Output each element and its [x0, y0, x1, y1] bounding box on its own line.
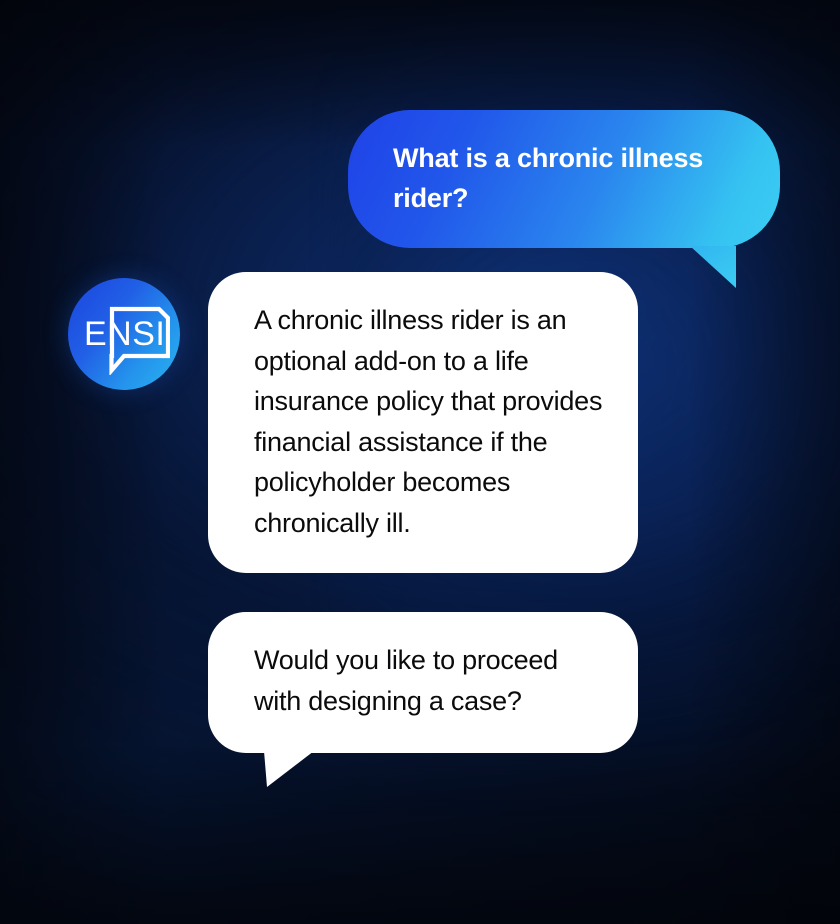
conversation-thread: What is a chronic illness rider? ENSI A …	[0, 0, 840, 924]
user-bubble-tail	[690, 246, 736, 288]
speech-bubble-logo-icon: ENSI	[78, 293, 170, 375]
avatar-brand-text: ENSI	[84, 315, 165, 353]
user-message-text: What is a chronic illness rider?	[393, 138, 740, 218]
assistant-bubble-tail	[264, 751, 314, 787]
assistant-avatar: ENSI	[68, 278, 180, 390]
user-message-bubble[interactable]: What is a chronic illness rider?	[348, 110, 780, 248]
chat-screen: What is a chronic illness rider? ENSI A …	[0, 0, 840, 924]
assistant-message-text-1: A chronic illness rider is an optional a…	[254, 300, 604, 543]
assistant-message-bubble-2[interactable]: Would you like to proceed with designing…	[208, 612, 638, 753]
assistant-message-bubble-1[interactable]: A chronic illness rider is an optional a…	[208, 272, 638, 573]
assistant-message-text-2: Would you like to proceed with designing…	[254, 640, 604, 721]
message-row-user: What is a chronic illness rider?	[348, 110, 780, 248]
